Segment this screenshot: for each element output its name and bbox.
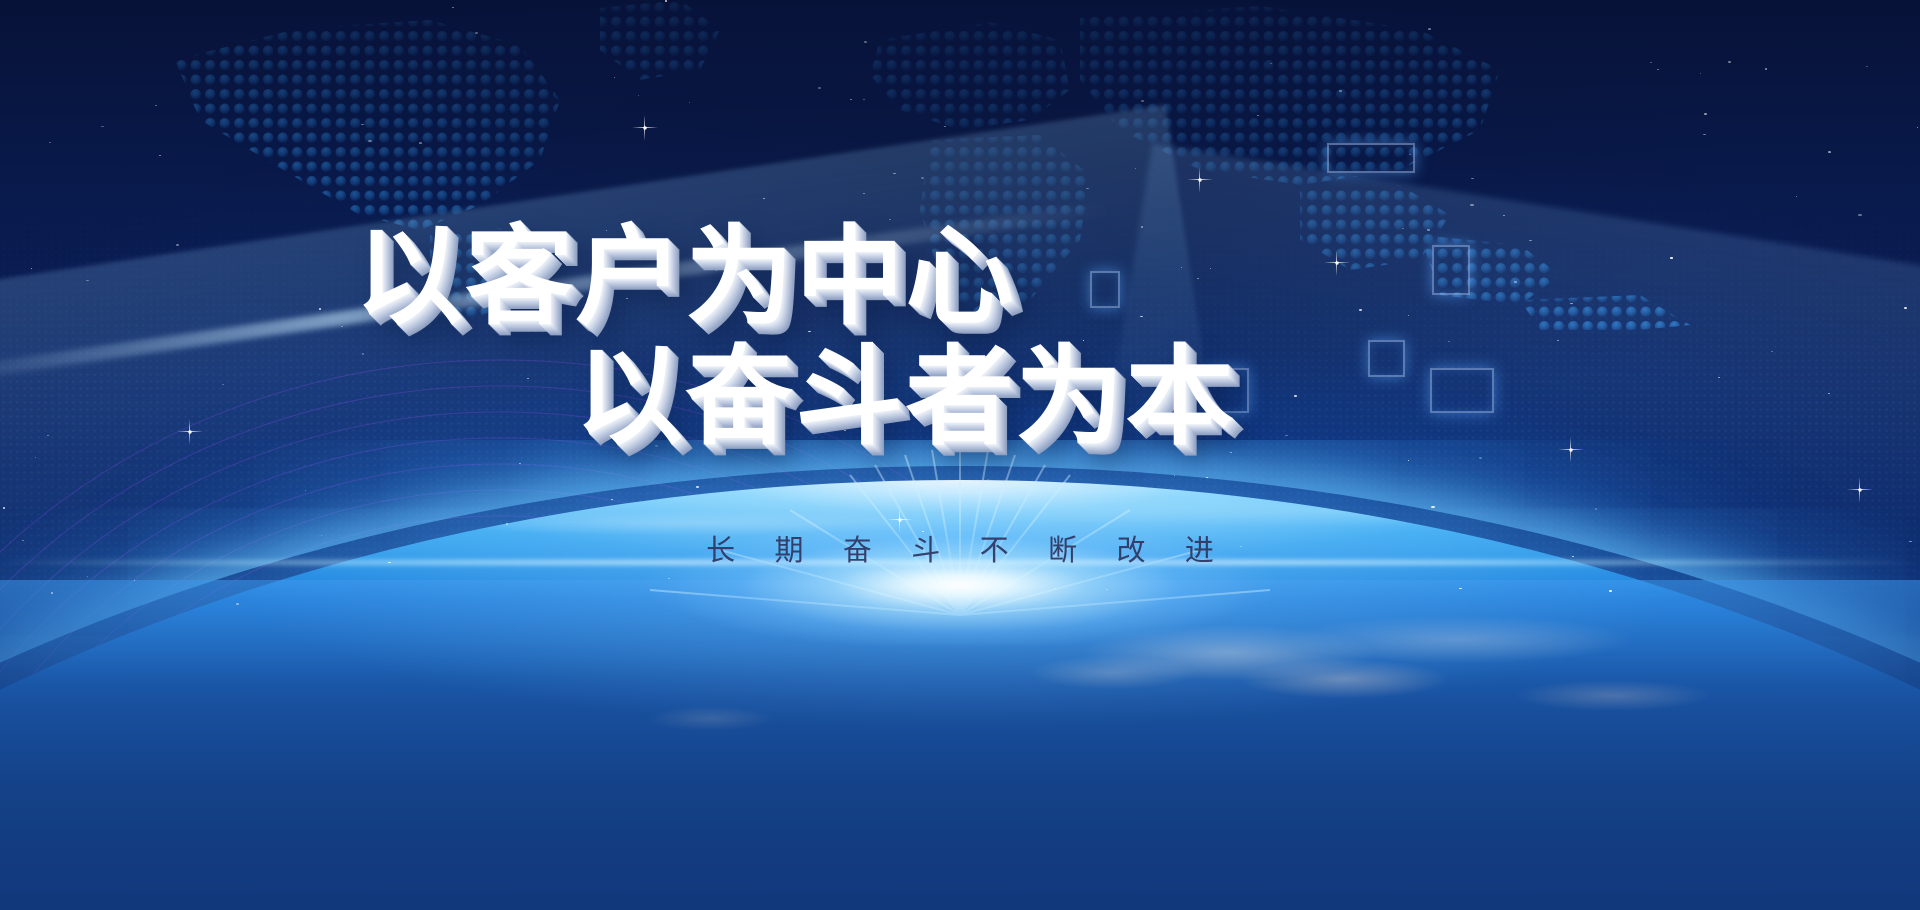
earth-globe bbox=[0, 440, 1920, 910]
geo-rect-3 bbox=[1090, 271, 1120, 308]
banner-canvas: 以客户为中心 以奋斗者为本 长 期 奋 斗 不 断 改 进 bbox=[0, 0, 1920, 910]
city-blue-haze bbox=[0, 580, 1920, 910]
geo-rect-1 bbox=[1327, 143, 1415, 173]
geo-rect-5 bbox=[1205, 368, 1249, 413]
geo-rect-4 bbox=[1368, 340, 1405, 377]
geo-rect-6 bbox=[1430, 368, 1494, 413]
city-aerial-view bbox=[0, 580, 1920, 910]
subtitle-text: 长 期 奋 斗 不 断 改 进 bbox=[0, 527, 1920, 569]
geo-rect-2 bbox=[1432, 245, 1470, 295]
